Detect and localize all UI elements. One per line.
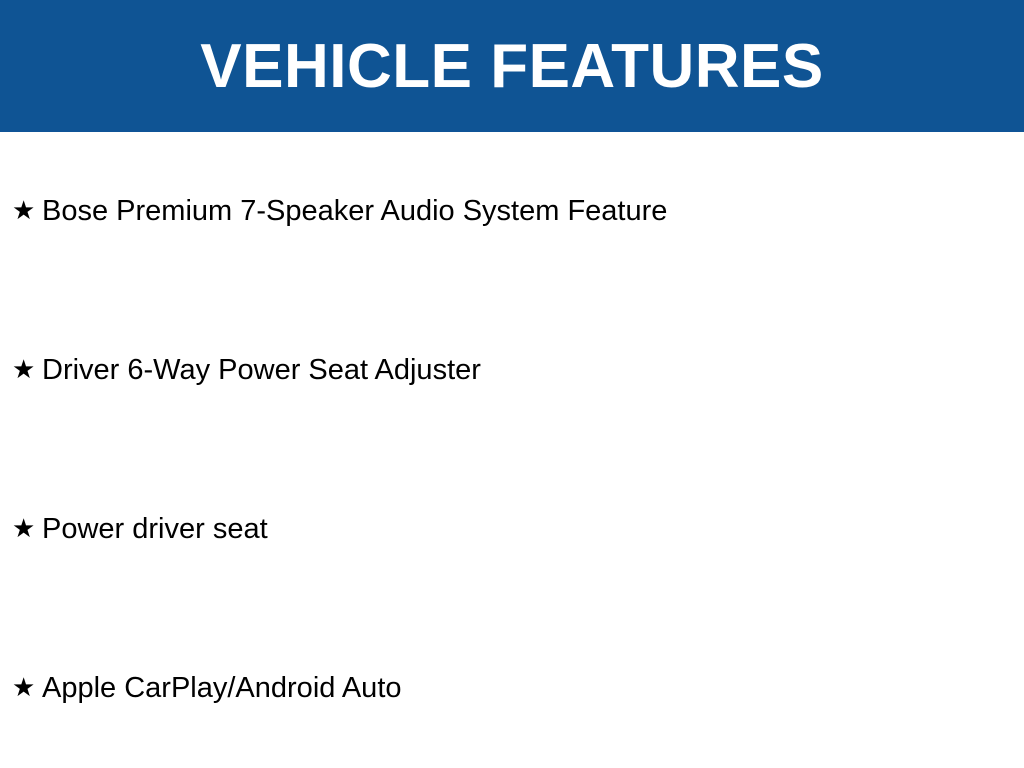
header-banner: VEHICLE FEATURES	[0, 0, 1024, 132]
list-item: ★ Power driver seat	[0, 509, 1024, 549]
features-list: ★ Bose Premium 7-Speaker Audio System Fe…	[0, 140, 1024, 768]
feature-label: Driver 6-Way Power Seat Adjuster	[42, 350, 481, 390]
star-bullet-icon: ★	[12, 668, 42, 708]
banner-seam-divider	[0, 132, 1024, 140]
vehicle-features-slide: VEHICLE FEATURES ★ Bose Premium 7-Speake…	[0, 0, 1024, 768]
star-bullet-icon: ★	[12, 350, 42, 390]
feature-label: Apple CarPlay/Android Auto	[42, 668, 402, 708]
star-bullet-icon: ★	[12, 509, 42, 549]
list-item: ★ Driver 6-Way Power Seat Adjuster	[0, 350, 1024, 390]
list-item: ★ Bose Premium 7-Speaker Audio System Fe…	[0, 191, 1024, 231]
page-title: VEHICLE FEATURES	[200, 36, 823, 98]
star-bullet-icon: ★	[12, 191, 42, 231]
list-item: ★ Apple CarPlay/Android Auto	[0, 668, 1024, 708]
feature-label: Bose Premium 7-Speaker Audio System Feat…	[42, 191, 667, 231]
feature-label: Power driver seat	[42, 509, 268, 549]
